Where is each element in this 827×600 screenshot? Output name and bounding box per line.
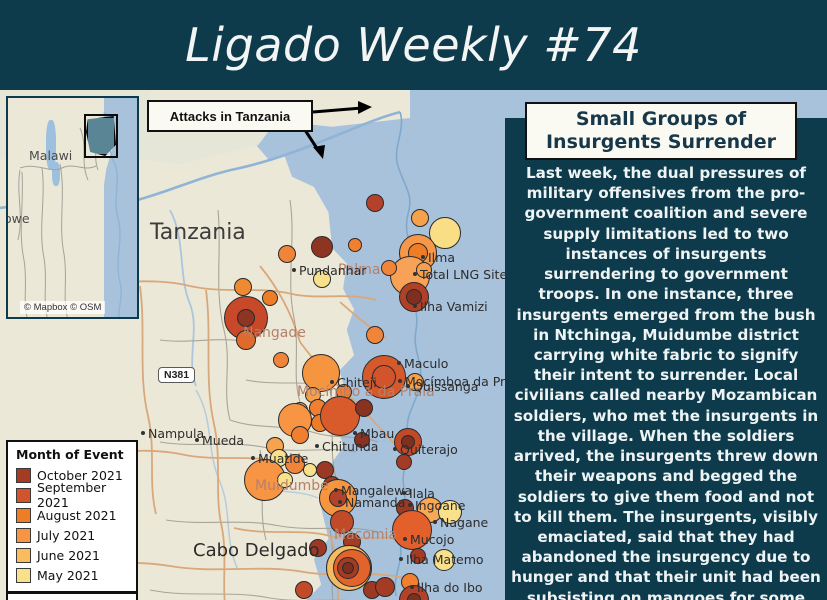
- map-place-dot: [195, 438, 199, 442]
- map-place-dot: [338, 500, 342, 504]
- event-bubble[interactable]: [262, 290, 278, 306]
- map-place-dot: [399, 557, 403, 561]
- inset-highlight-frame: [84, 114, 118, 158]
- event-bubble[interactable]: [433, 549, 455, 571]
- map-place-dot: [403, 537, 407, 541]
- map-place-dot: [402, 491, 406, 495]
- event-bubble[interactable]: [342, 562, 354, 574]
- event-bubble[interactable]: [278, 245, 296, 263]
- map-place-dot: [393, 447, 397, 451]
- callout-label: Attacks in Tanzania: [170, 109, 290, 124]
- map-place-dot: [406, 384, 410, 388]
- map-place-dot: [413, 304, 417, 308]
- legend-color-swatch: [16, 488, 31, 503]
- poster-header: Ligado Weekly #74: [0, 0, 827, 90]
- map-place-dot: [251, 456, 255, 460]
- event-bubble[interactable]: [313, 270, 331, 288]
- map-place-dot: [433, 520, 437, 524]
- event-bubble[interactable]: [355, 399, 373, 417]
- event-bubble[interactable]: [381, 260, 397, 276]
- legend-color-swatch: [16, 548, 31, 563]
- inset-label-malawi: Malawi: [29, 148, 72, 163]
- map-place-dot: [334, 488, 338, 492]
- event-bubble[interactable]: [330, 510, 354, 534]
- legend-month-of-event: Month of Event October 2021September 202…: [6, 440, 138, 593]
- legend-month-row[interactable]: August 2021: [16, 505, 128, 525]
- legend-month-label: August 2021: [37, 508, 117, 523]
- map-place-dot: [292, 268, 296, 272]
- map-place-dot: [421, 255, 425, 259]
- event-bubble[interactable]: [406, 289, 422, 305]
- event-bubble[interactable]: [302, 354, 340, 392]
- event-bubble[interactable]: [234, 278, 252, 296]
- event-bubble[interactable]: [438, 500, 462, 524]
- event-bubble[interactable]: [277, 472, 293, 488]
- highway-shield-n381: N381: [158, 367, 195, 383]
- article-headline-box: Small Groups of Insurgents Surrender: [525, 102, 797, 160]
- event-bubble[interactable]: [416, 262, 432, 278]
- legend-color-swatch: [16, 468, 31, 483]
- legend-color-swatch: [16, 508, 31, 523]
- legend-number-of-events: Number of Events 1246: [6, 592, 138, 600]
- article-headline: Small Groups of Insurgents Surrender: [527, 108, 795, 154]
- event-bubble[interactable]: [366, 194, 384, 212]
- event-bubble[interactable]: [303, 463, 317, 477]
- map-place-dot: [353, 431, 357, 435]
- map-place-dot: [315, 444, 319, 448]
- map-place-dot: [397, 361, 401, 365]
- event-bubble[interactable]: [237, 309, 255, 327]
- event-bubble[interactable]: [401, 435, 415, 449]
- event-bubble[interactable]: [392, 510, 432, 550]
- legend-color-swatch: [16, 568, 31, 583]
- legend-month-title: Month of Event: [16, 447, 128, 462]
- event-bubble[interactable]: [311, 236, 333, 258]
- article-body-text: Last week, the dual pressures of militar…: [511, 163, 821, 600]
- event-bubble[interactable]: [375, 577, 395, 597]
- map-place-dot: [141, 431, 145, 435]
- inset-label-zimbabwe: owe: [6, 211, 30, 226]
- legend-month-row[interactable]: September 2021: [16, 485, 128, 505]
- event-bubble[interactable]: [348, 238, 362, 252]
- event-bubble[interactable]: [285, 454, 305, 474]
- event-bubble[interactable]: [273, 352, 289, 368]
- legend-month-label: May 2021: [37, 568, 99, 583]
- event-bubble[interactable]: [406, 373, 424, 391]
- legend-month-label: July 2021: [37, 528, 95, 543]
- legend-month-row[interactable]: June 2021: [16, 545, 128, 565]
- event-bubble[interactable]: [295, 581, 313, 599]
- event-bubble[interactable]: [396, 454, 412, 470]
- inset-lake-malawi-south: [52, 162, 60, 186]
- event-bubble[interactable]: [320, 396, 360, 436]
- legend-month-row[interactable]: July 2021: [16, 525, 128, 545]
- map-place-dot: [330, 380, 334, 384]
- map-place-dot: [410, 585, 414, 589]
- event-bubble[interactable]: [366, 326, 384, 344]
- poster-root: Ligado Weekly #74: [0, 0, 827, 600]
- page-title: Ligado Weekly #74: [185, 18, 642, 72]
- map-place-dot: [413, 272, 417, 276]
- inset-overview-map[interactable]: Malawi owe © Mapbox © OSM: [6, 96, 139, 319]
- legend-month-row[interactable]: May 2021: [16, 565, 128, 585]
- event-bubble[interactable]: [411, 209, 429, 227]
- map-place-dot: [408, 503, 412, 507]
- event-bubble[interactable]: [410, 548, 426, 564]
- event-bubble[interactable]: [372, 365, 396, 389]
- event-bubble[interactable]: [407, 593, 421, 600]
- event-bubble[interactable]: [329, 489, 347, 507]
- inset-map-attribution: © Mapbox © OSM: [20, 301, 105, 314]
- event-bubble[interactable]: [236, 330, 256, 350]
- legend-month-label: June 2021: [37, 548, 100, 563]
- legend-color-swatch: [16, 528, 31, 543]
- map-place-dot: [398, 379, 402, 383]
- legend-month-label: September 2021: [37, 480, 128, 510]
- event-bubble[interactable]: [291, 426, 309, 444]
- annotation-callout-tanzania: Attacks in Tanzania: [147, 100, 313, 132]
- event-bubble[interactable]: [309, 539, 327, 557]
